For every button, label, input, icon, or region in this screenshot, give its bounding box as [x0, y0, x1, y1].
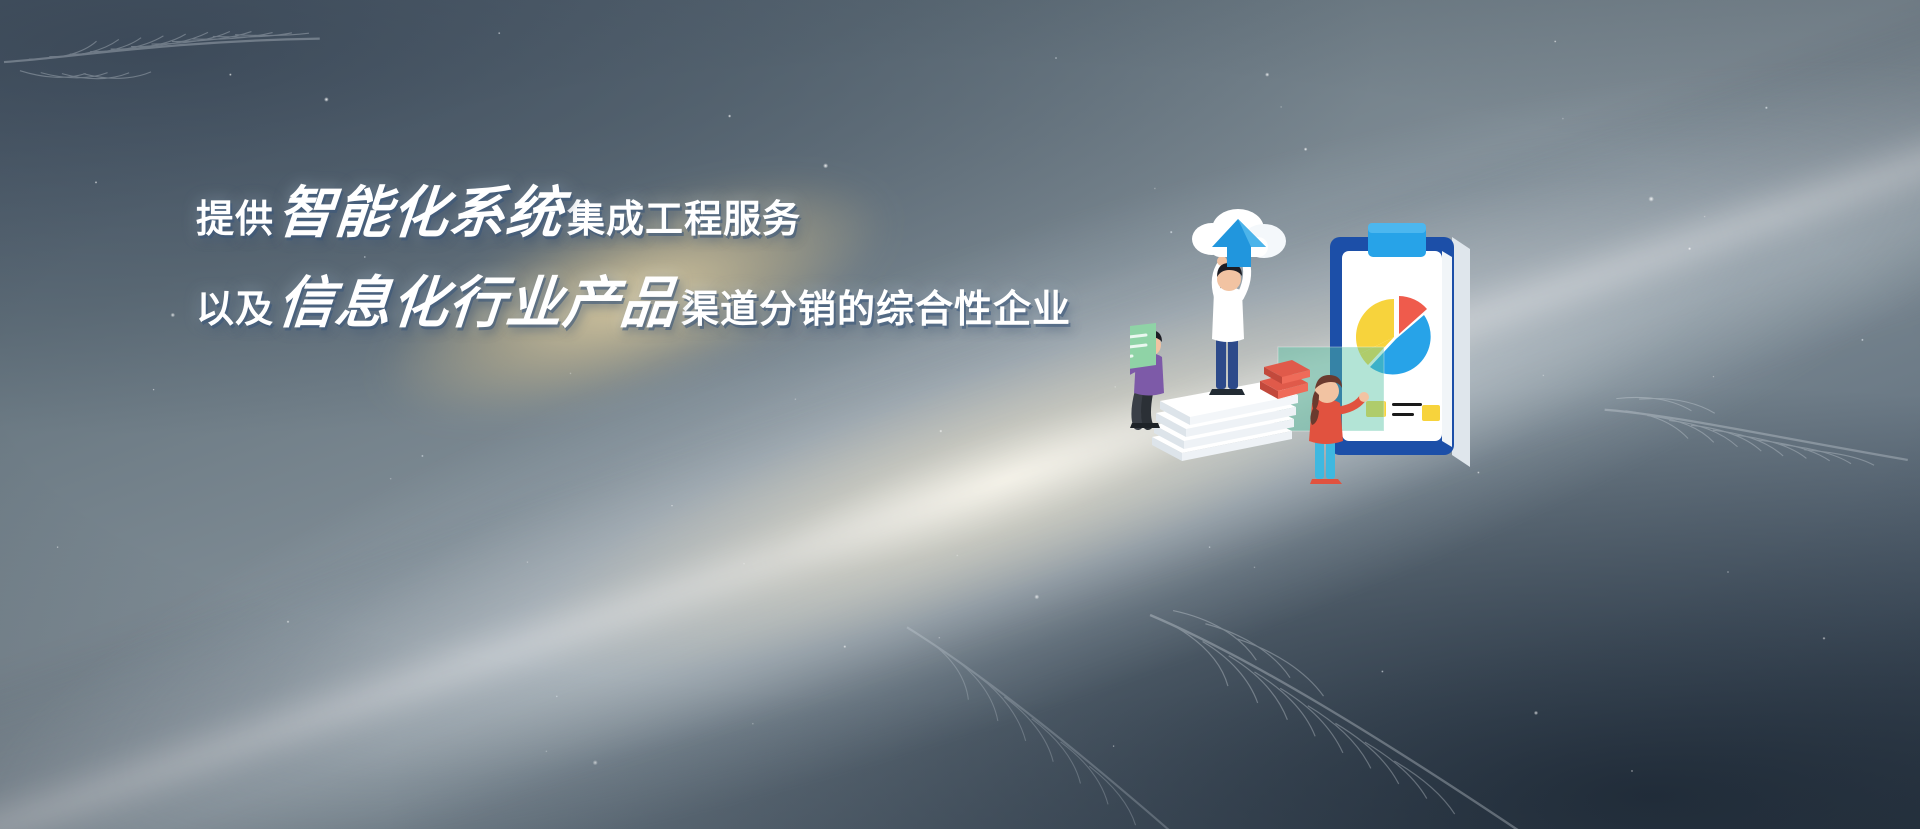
headline-line2-pre: 以及	[196, 290, 274, 328]
business-analytics-illustration	[1130, 205, 1790, 505]
headline-line2-post: 渠道分销的综合性企业	[681, 290, 1071, 328]
headline: 提供智能化系统集成工程服务 以及信息化行业产品渠道分销的综合性企业	[196, 186, 1096, 332]
headline-line-1: 提供智能化系统集成工程服务	[196, 186, 1096, 242]
headline-line-2: 以及信息化行业产品渠道分销的综合性企业	[196, 276, 1096, 332]
headline-line1-emphasis: 智能化系统	[272, 186, 570, 242]
headline-line1-pre: 提供	[196, 200, 274, 238]
standing-man	[1209, 256, 1251, 395]
headline-line1-post: 集成工程服务	[567, 200, 801, 238]
banner-root: 提供智能化系统集成工程服务 以及信息化行业产品渠道分销的综合性企业	[0, 0, 1920, 829]
headline-line2-emphasis: 信息化行业产品	[272, 276, 684, 332]
